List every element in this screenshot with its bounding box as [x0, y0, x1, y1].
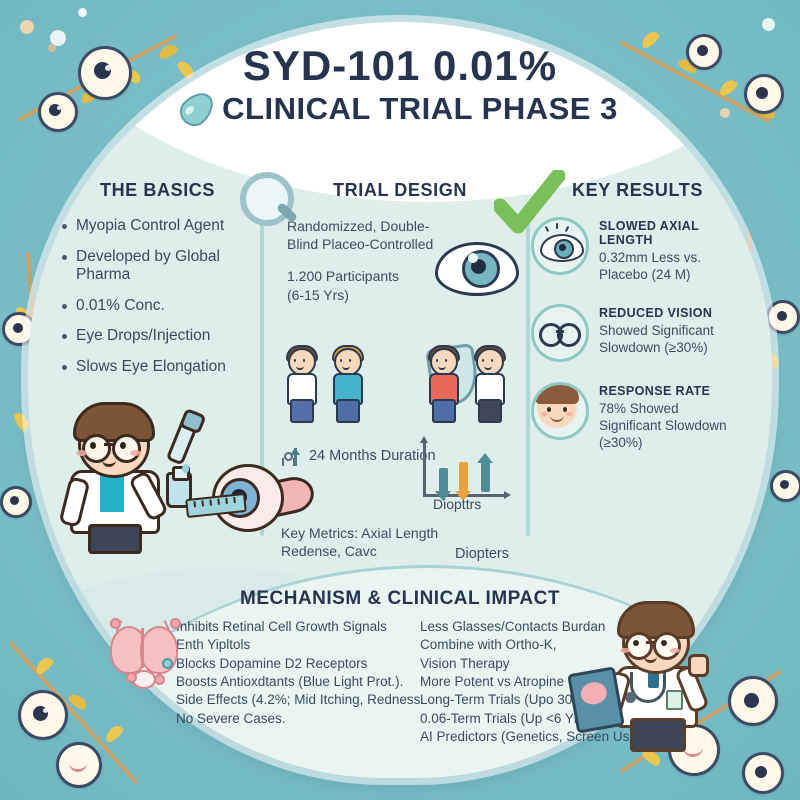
four-children-illustration — [277, 340, 523, 422]
result-item-reduced-vision: REDUCED VISION Showed Significant Slowdo… — [531, 304, 744, 362]
title-line-1: SYD-101 0.01% — [0, 44, 800, 88]
result-title: REDUCED VISION — [599, 306, 744, 320]
brain-icon — [108, 620, 180, 686]
result-item-response-rate: RESPONSE RATE 78% Showed Significant Slo… — [531, 382, 744, 452]
result-body: 78% Showed Significant Slowdown (≥30%) — [599, 401, 744, 452]
infographic-canvas: SYD-101 0.01% CLINICAL TRIAL PHASE 3 THE… — [0, 0, 800, 800]
check-mark-icon — [494, 170, 566, 236]
list-item: Myopia Control Agent — [60, 217, 269, 236]
eyeball-with-ruler-illustration — [190, 462, 308, 534]
doctor-illustration — [604, 598, 716, 748]
large-eye-icon — [435, 242, 519, 296]
list-item: Developed by Global Pharma — [60, 248, 269, 285]
metrics-side-label: Diopters — [455, 546, 509, 562]
design-paragraph-1: Randomizzed, Double-Blind Placeo-Control… — [287, 217, 437, 253]
basics-heading: THE BASICS — [56, 180, 269, 201]
tablet-icon — [567, 666, 625, 733]
result-body: 0.32mm Less vs. Placebo (24 M) — [599, 250, 744, 284]
result-body: Showed Significant Slowdown (≥30%) — [599, 323, 744, 357]
column-trial-design: TRIAL DESIGN Randomizzed, Double-Blind P… — [277, 180, 523, 570]
magnifier-icon — [240, 172, 302, 234]
chart-axis-label: Diopttrs — [433, 496, 481, 512]
diopters-mini-chart: Diopttrs — [415, 442, 515, 510]
design-paragraph-2: 1.200 Participants (6-15 Yrs) — [287, 267, 417, 303]
glasses-icon — [531, 304, 589, 362]
list-item: Eye Drops/Injection — [60, 327, 269, 346]
title-block: SYD-101 0.01% CLINICAL TRIAL PHASE 3 — [0, 44, 800, 128]
design-heading: TRIAL DESIGN — [285, 180, 515, 201]
result-title: SLOWED AXIAL LENGTH — [599, 219, 744, 247]
smiling-face-icon — [531, 382, 589, 440]
list-item: Slows Eye Elongation — [60, 358, 269, 377]
title-line-2: CLINICAL TRIAL PHASE 3 — [222, 91, 618, 127]
water-droplet-icon — [174, 86, 220, 132]
result-title: RESPONSE RATE — [599, 384, 744, 398]
column-key-results: KEY RESULTS SLOWED AXIAL LENGTH 0.32mm L… — [523, 180, 752, 570]
eye-drop-icon — [182, 464, 189, 473]
list-item: 0.01% Conc. — [60, 297, 269, 316]
basics-bullet-list: Myopia Control Agent Developed by Global… — [56, 217, 269, 377]
scientist-with-dropper-illustration — [62, 398, 182, 550]
